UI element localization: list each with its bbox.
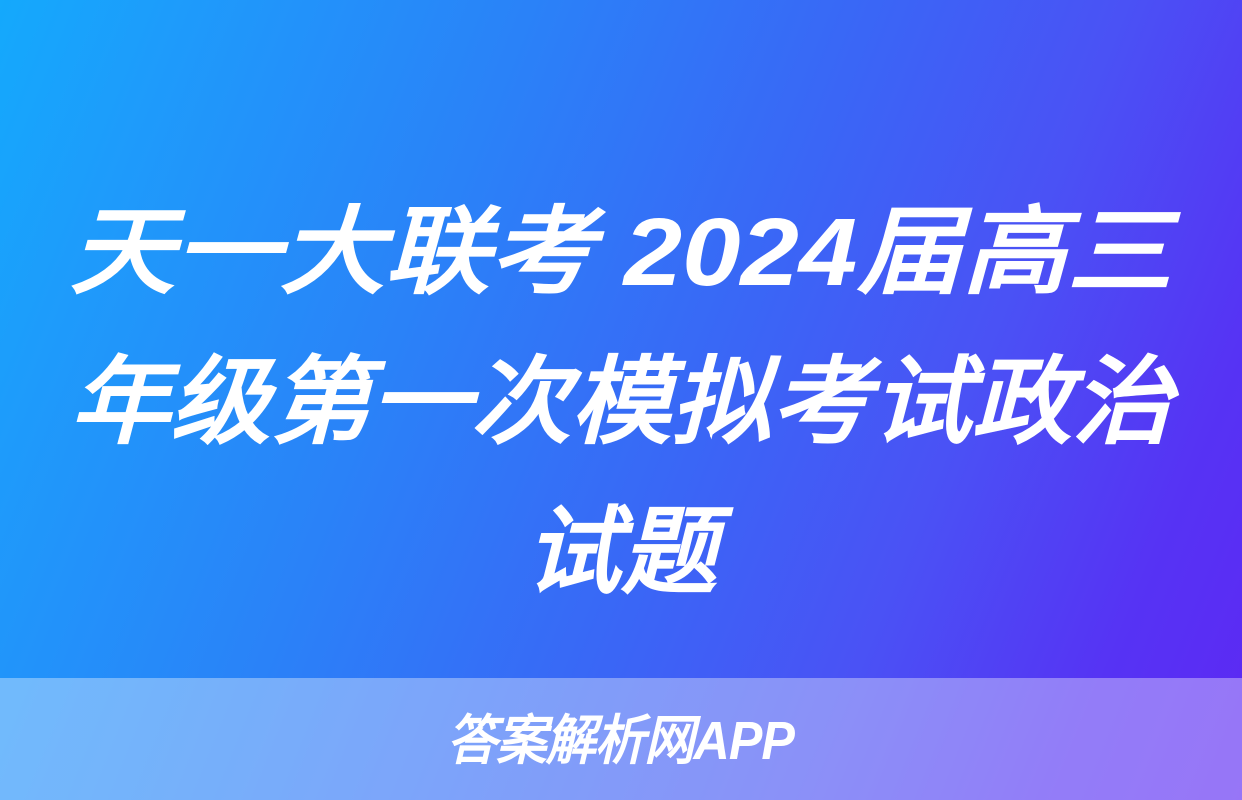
title-line-3: 试题 <box>70 478 1172 628</box>
exam-title-card: 天一大联考 2024届高三 年级第一次模拟考试政治 试题 答案解析网APP <box>0 0 1242 800</box>
watermark-band: 答案解析网APP <box>0 678 1242 800</box>
watermark-label: 答案解析网APP <box>448 714 795 768</box>
page-title: 天一大联考 2024届高三 年级第一次模拟考试政治 试题 <box>0 178 1242 628</box>
title-line-1: 天一大联考 2024届高三 <box>19 178 1223 328</box>
title-line-2: 年级第一次模拟考试政治 <box>46 328 1196 478</box>
